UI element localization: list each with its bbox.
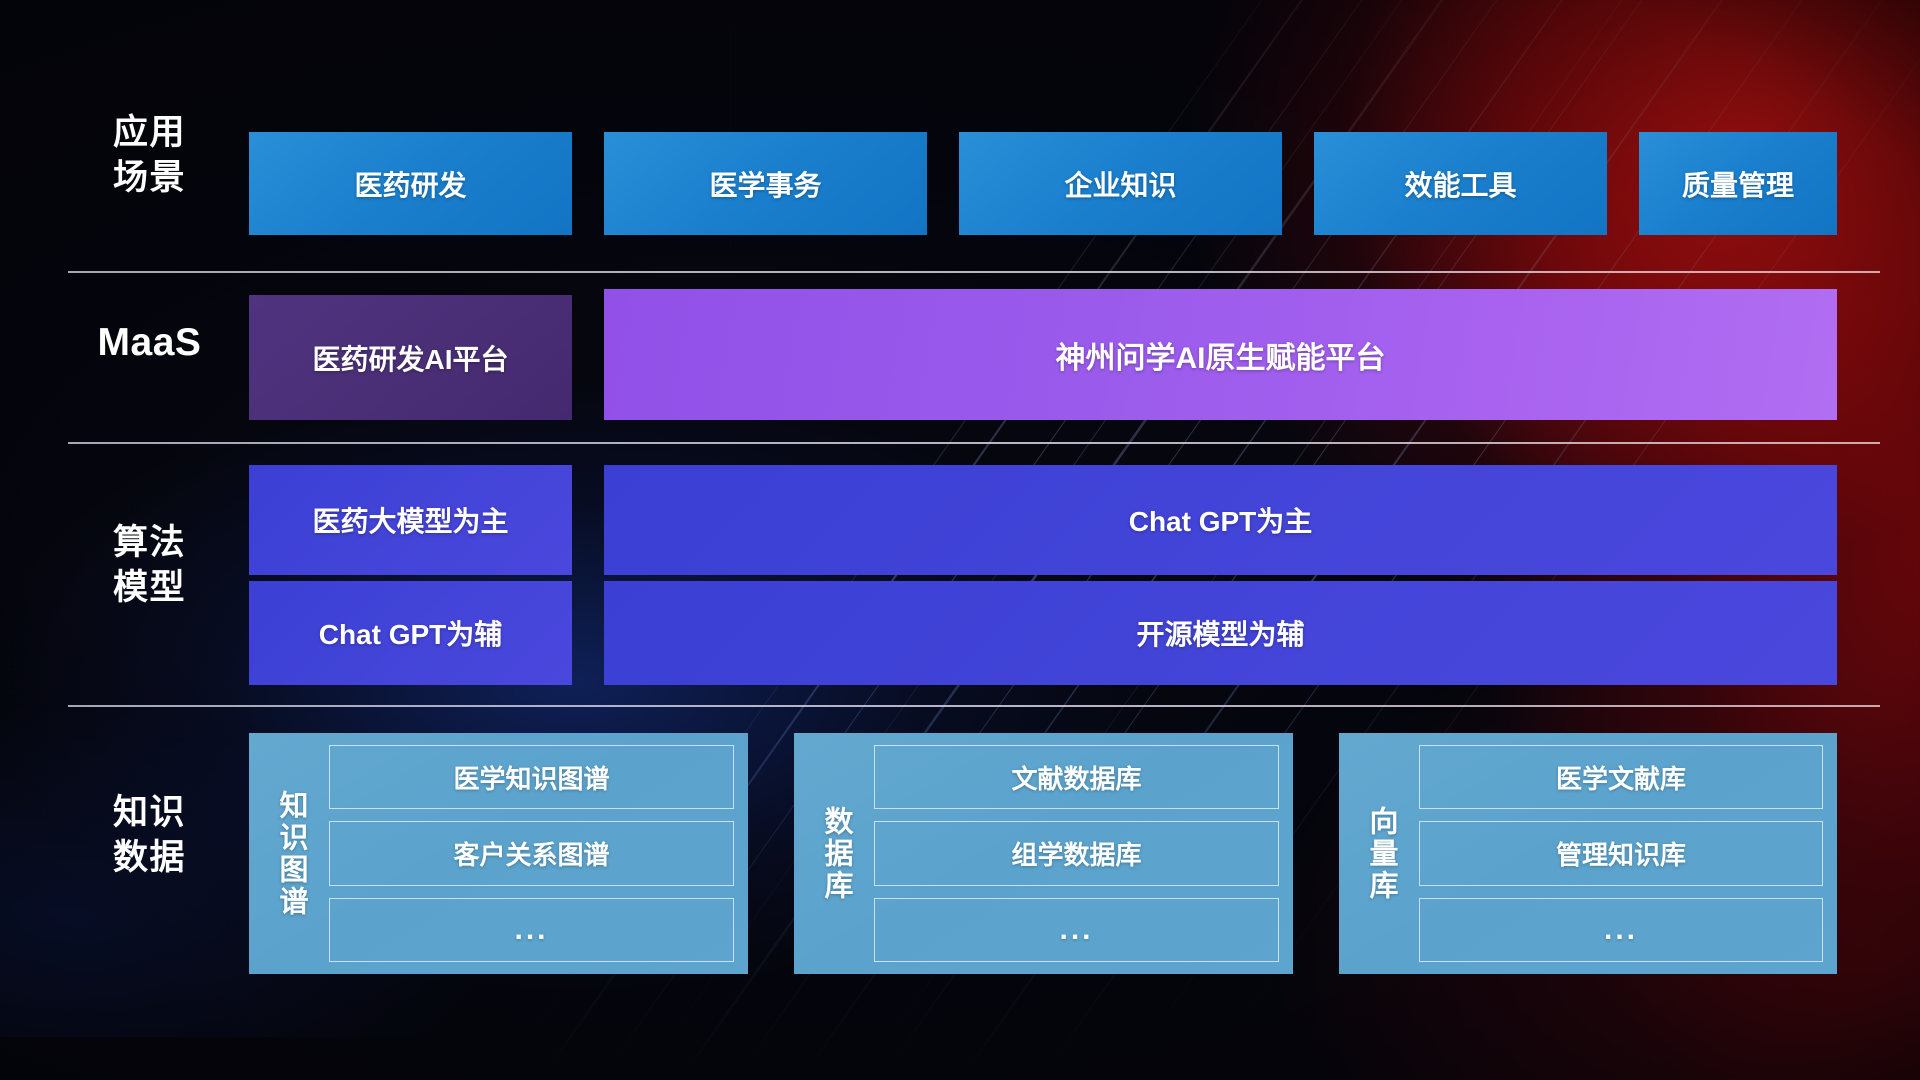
row-label-algorithm-model: 算法 模型	[62, 520, 237, 610]
knowledge-item-more-vector-store[interactable]: ...	[1419, 898, 1823, 962]
knowledge-items-vector-store: 医学文献库 管理知识库 ...	[1413, 745, 1823, 962]
knowledge-items-knowledge-graph: 医学知识图谱 客户关系图谱 ...	[323, 745, 734, 962]
row-label-application-scenarios: 应用 场景	[62, 110, 237, 200]
knowledge-item-medical-knowledge-graph[interactable]: 医学知识图谱	[329, 745, 734, 809]
divider-1	[68, 271, 1880, 273]
knowledge-panel-title-knowledge-graph: 知识图谱	[259, 745, 323, 962]
knowledge-item-medical-literature-store[interactable]: 医学文献库	[1419, 745, 1823, 809]
maas-cell-pharma-ai-platform[interactable]: 医药研发AI平台	[249, 295, 572, 420]
algo-cell-chatgpt-primary[interactable]: Chat GPT为主	[604, 465, 1837, 575]
knowledge-item-more-knowledge-graph[interactable]: ...	[329, 898, 734, 962]
knowledge-items-database: 文献数据库 组学数据库 ...	[868, 745, 1279, 962]
knowledge-item-more-database[interactable]: ...	[874, 898, 1279, 962]
row-label-maas: MaaS	[62, 320, 237, 365]
algo-cell-opensource-secondary[interactable]: 开源模型为辅	[604, 581, 1837, 685]
divider-3	[68, 705, 1880, 707]
app-cell-pharma-rd[interactable]: 医药研发	[249, 132, 572, 235]
knowledge-panel-title-vector-store: 向量库	[1349, 745, 1413, 962]
algo-cell-chatgpt-secondary[interactable]: Chat GPT为辅	[249, 581, 572, 685]
app-cell-efficiency-tools[interactable]: 效能工具	[1314, 132, 1607, 235]
algo-cell-pharma-llm-primary[interactable]: 医药大模型为主	[249, 465, 572, 575]
knowledge-item-literature-database[interactable]: 文献数据库	[874, 745, 1279, 809]
architecture-diagram: 应用 场景 医药研发 医学事务 企业知识 效能工具 质量管理 MaaS 医药研发…	[0, 0, 1920, 1080]
knowledge-item-omics-database[interactable]: 组学数据库	[874, 821, 1279, 885]
maas-cell-shenzhou-wenxue-platform[interactable]: 神州问学AI原生赋能平台	[604, 289, 1837, 420]
divider-2	[68, 442, 1880, 444]
knowledge-item-management-knowledge-store[interactable]: 管理知识库	[1419, 821, 1823, 885]
row-label-knowledge-data: 知识 数据	[62, 790, 237, 880]
knowledge-item-customer-relation-graph[interactable]: 客户关系图谱	[329, 821, 734, 885]
knowledge-panel-knowledge-graph[interactable]: 知识图谱 医学知识图谱 客户关系图谱 ...	[249, 733, 748, 974]
knowledge-panel-database[interactable]: 数据库 文献数据库 组学数据库 ...	[794, 733, 1293, 974]
app-cell-enterprise-knowledge[interactable]: 企业知识	[959, 132, 1282, 235]
app-cell-quality-management[interactable]: 质量管理	[1639, 132, 1837, 235]
app-cell-medical-affairs[interactable]: 医学事务	[604, 132, 927, 235]
knowledge-panel-vector-store[interactable]: 向量库 医学文献库 管理知识库 ...	[1339, 733, 1837, 974]
knowledge-panel-title-database: 数据库	[804, 745, 868, 962]
